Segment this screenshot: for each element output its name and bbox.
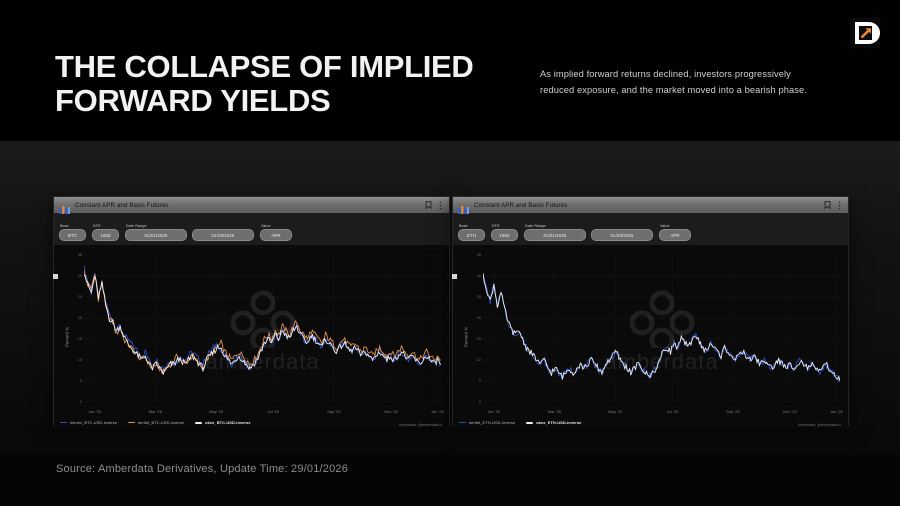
legend-swatch xyxy=(195,422,202,424)
control-value-label: Value xyxy=(659,224,691,228)
chart-eth-attribution: Amberdata, @amberdata.io xyxy=(798,423,841,427)
base-select-eth[interactable]: ETH xyxy=(458,229,485,241)
xtick-label: Jan '26 xyxy=(830,409,843,414)
source-footer: Source: Amberdata Derivatives, Update Ti… xyxy=(56,463,348,475)
daterange-to-eth[interactable]: 01/29/2026 xyxy=(591,229,653,241)
control-value-eth: Value APR xyxy=(659,224,691,241)
xtick-label: Nov '25 xyxy=(783,409,796,414)
ytick-label: 10 xyxy=(78,358,82,362)
control-daterange-label: Date Range xyxy=(524,224,653,228)
xtick-label: Mar '25 xyxy=(149,409,162,414)
control-daterange-label: Date Range xyxy=(125,224,254,228)
ytick-label: 5 xyxy=(479,379,481,383)
chart-eth-plot: amberdata xyxy=(483,255,840,402)
ytick-label: 35 xyxy=(477,253,481,257)
control-daterange-btc: Date Range 01/01/2025 01/29/2026 xyxy=(125,224,254,241)
more-vertical-icon[interactable] xyxy=(838,201,841,210)
panel-btc-titlebar[interactable]: Constant APR and Basis Futures xyxy=(54,197,449,213)
chart-eth-yticks: 35302520151050 xyxy=(463,255,482,402)
dte-select-btc[interactable]: 180d xyxy=(92,229,119,241)
chart-btc-plot: amberdata xyxy=(84,255,441,402)
xtick-label: Sep '25 xyxy=(726,409,739,414)
series-deribit_ETH-USD-inverse xyxy=(483,278,840,382)
page-title-line2: FORWARD YIELDS xyxy=(55,84,525,118)
control-value-btc: Value APR xyxy=(260,224,292,241)
xtick-label: Jul '25 xyxy=(666,409,677,414)
panel-eth: Constant APR and Basis Futures Base ETH xyxy=(452,196,849,426)
panel-btc-title: Constant APR and Basis Futures xyxy=(75,202,168,209)
legend-label: deribit_ETH-USD-inverse xyxy=(469,420,515,425)
bookmark-icon[interactable] xyxy=(824,201,831,209)
ytick-label: 20 xyxy=(477,316,481,320)
panel-btc: Constant APR and Basis Futures Base BTC xyxy=(53,196,450,426)
chart-btc-attribution: Amberdata, @amberdata.io xyxy=(399,423,442,427)
chart-btc: Percent % 35302520151050 amberdata Jan '… xyxy=(54,246,449,428)
legend-swatch xyxy=(128,422,135,424)
xtick-label: May '25 xyxy=(209,409,223,414)
ytick-label: 25 xyxy=(477,295,481,299)
chart-btc-legend: bitmex_BTC-USD-inversederibit_BTC-USD-in… xyxy=(60,417,251,428)
ytick-label: 15 xyxy=(78,337,82,341)
legend-item[interactable]: okex_BTC-USD-inverse xyxy=(195,420,250,425)
chart-btc-yticks: 35302520151050 xyxy=(64,255,83,402)
value-select-eth[interactable]: APR xyxy=(659,229,691,241)
chart-eth-svg xyxy=(483,255,840,402)
chart-btc-svg xyxy=(84,255,441,402)
series-okex_ETH-USD-inverse xyxy=(483,273,840,381)
xtick-label: Jan '25 xyxy=(487,409,500,414)
chart-eth-legend: deribit_ETH-USD-inverseokex_ETH-USD-inve… xyxy=(459,417,581,428)
legend-item[interactable]: bitmex_BTC-USD-inverse xyxy=(60,420,117,425)
ytick-label: 15 xyxy=(477,337,481,341)
control-dte-label: DTE xyxy=(92,224,119,228)
chart-eth-xticks: Jan '25Mar '25May '25Jul '25Sep '25Nov '… xyxy=(483,409,840,417)
legend-label: okex_BTC-USD-inverse xyxy=(205,420,250,425)
xtick-label: Mar '25 xyxy=(548,409,561,414)
page-subtitle: As implied forward returns declined, inv… xyxy=(540,66,860,99)
daterange-from-btc[interactable]: 01/01/2025 xyxy=(125,229,187,241)
legend-label: bitmex_BTC-USD-inverse xyxy=(70,420,117,425)
resize-handle-eth[interactable] xyxy=(452,274,457,279)
ytick-label: 0 xyxy=(479,400,481,404)
panel-btc-controls: Base BTC DTE 180d Date Range 01/01/2025 … xyxy=(54,213,449,246)
control-base-label: Base xyxy=(458,224,485,228)
page-subtitle-line2: reduced exposure, and the market moved i… xyxy=(540,82,860,98)
ytick-label: 5 xyxy=(80,379,82,383)
ytick-label: 20 xyxy=(78,316,82,320)
page-title-line1: THE COLLAPSE OF IMPLIED xyxy=(55,49,474,84)
slide-root: THE COLLAPSE OF IMPLIED FORWARD YIELDS A… xyxy=(0,0,900,506)
dte-select-eth[interactable]: 180d xyxy=(491,229,518,241)
daterange-to-btc[interactable]: 01/29/2026 xyxy=(192,229,254,241)
legend-swatch xyxy=(526,422,533,424)
amberdata-b-logo-icon xyxy=(850,18,880,48)
ytick-label: 25 xyxy=(78,295,82,299)
legend-label: deribit_BTC-USD-inverse xyxy=(138,420,184,425)
panel-eth-titlebar[interactable]: Constant APR and Basis Futures xyxy=(453,197,848,213)
bookmark-icon[interactable] xyxy=(425,201,432,209)
control-base-label: Base xyxy=(59,224,86,228)
xtick-label: Jan '26 xyxy=(431,409,444,414)
chart-app-icon xyxy=(59,201,70,210)
legend-item[interactable]: deribit_BTC-USD-inverse xyxy=(128,420,184,425)
legend-swatch xyxy=(60,422,67,424)
xtick-label: Jul '25 xyxy=(267,409,278,414)
xtick-label: Sep '25 xyxy=(327,409,340,414)
daterange-from-eth[interactable]: 01/01/2025 xyxy=(524,229,586,241)
xtick-label: Nov '25 xyxy=(384,409,397,414)
control-daterange-eth: Date Range 01/01/2025 01/29/2026 xyxy=(524,224,653,241)
ytick-label: 30 xyxy=(477,274,481,278)
page-title: THE COLLAPSE OF IMPLIED FORWARD YIELDS xyxy=(55,50,525,118)
ytick-label: 30 xyxy=(78,274,82,278)
control-dte-label: DTE xyxy=(491,224,518,228)
value-select-btc[interactable]: APR xyxy=(260,229,292,241)
legend-swatch xyxy=(459,422,466,424)
base-select-btc[interactable]: BTC xyxy=(59,229,86,241)
page-subtitle-line1: As implied forward returns declined, inv… xyxy=(540,66,860,82)
control-value-label: Value xyxy=(260,224,292,228)
control-dte-btc: DTE 180d xyxy=(92,224,119,241)
legend-label: okex_ETH-USD-inverse xyxy=(536,420,581,425)
chart-app-icon xyxy=(458,201,469,210)
ytick-label: 0 xyxy=(80,400,82,404)
legend-item[interactable]: okex_ETH-USD-inverse xyxy=(526,420,581,425)
ytick-label: 10 xyxy=(477,358,481,362)
control-dte-eth: DTE 180d xyxy=(491,224,518,241)
ytick-label: 35 xyxy=(78,253,82,257)
header-band: THE COLLAPSE OF IMPLIED FORWARD YIELDS A… xyxy=(0,0,900,141)
control-base-eth: Base ETH xyxy=(458,224,485,241)
panel-eth-title: Constant APR and Basis Futures xyxy=(474,202,567,209)
xtick-label: Jan '25 xyxy=(88,409,101,414)
panel-eth-controls: Base ETH DTE 180d Date Range 01/01/2025 … xyxy=(453,213,848,246)
chart-eth: Percent % 35302520151050 amberdata Jan '… xyxy=(453,246,848,428)
legend-item[interactable]: deribit_ETH-USD-inverse xyxy=(459,420,515,425)
resize-handle-btc[interactable] xyxy=(53,274,58,279)
more-vertical-icon[interactable] xyxy=(439,201,442,210)
xtick-label: May '25 xyxy=(608,409,622,414)
series-okex_BTC-USD-inverse xyxy=(84,275,441,375)
control-base-btc: Base BTC xyxy=(59,224,86,241)
chart-btc-xticks: Jan '25Mar '25May '25Jul '25Sep '25Nov '… xyxy=(84,409,441,417)
